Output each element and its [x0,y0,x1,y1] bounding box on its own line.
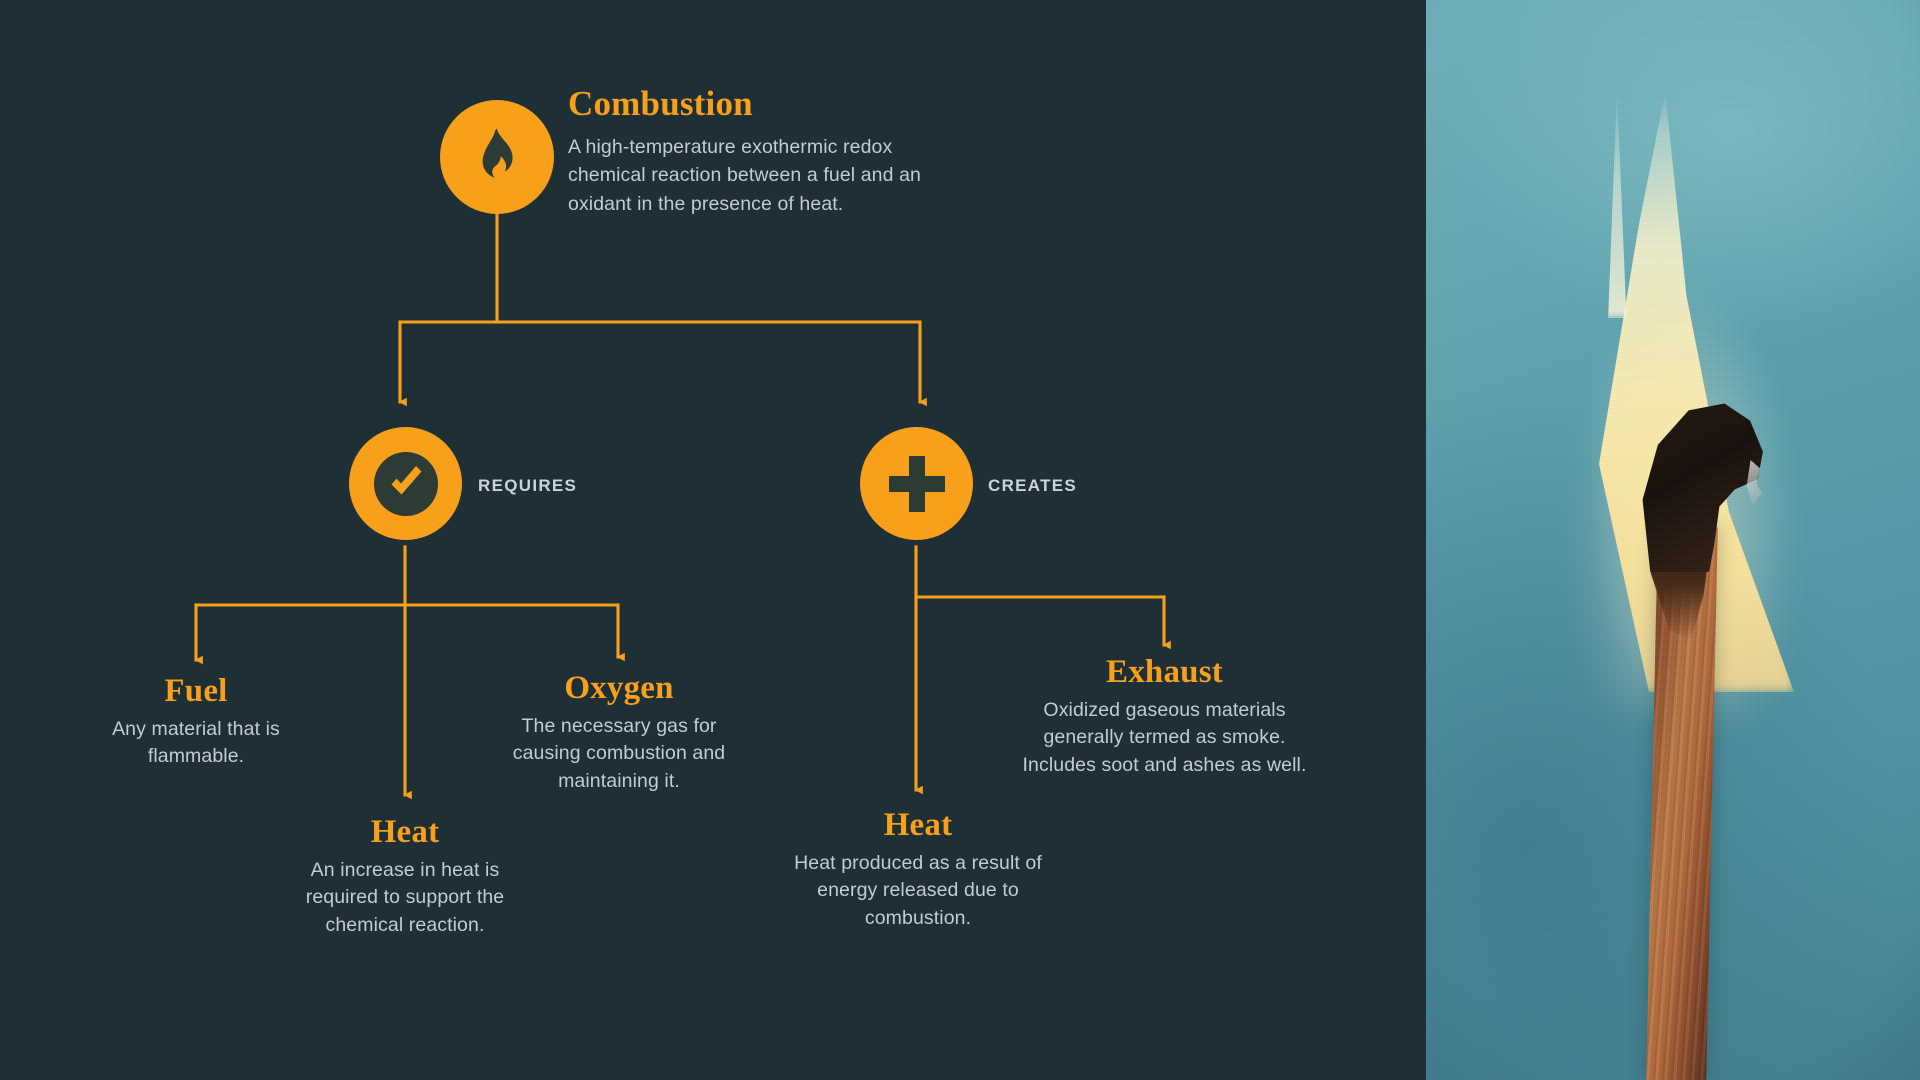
photo-vignette [1426,0,1920,1080]
diagram-panel: Combustion A high-temperature exothermic… [0,0,1426,1080]
leaf-node-exhaust[interactable]: Exhaust Oxidized gaseous materials gener… [1012,655,1317,780]
relation-label-creates: CREATES [988,477,1077,494]
leaf-title-fuel: Fuel [76,674,316,709]
leaf-node-heat-created[interactable]: Heat Heat produced as a result of energy… [793,808,1043,933]
leaf-node-heat-required[interactable]: Heat An increase in heat is required to … [285,815,525,940]
leaf-description-oxygen: The necessary gas for causing combustion… [494,713,744,796]
relation-label-requires: REQUIRES [478,477,577,494]
leaf-node-fuel[interactable]: Fuel Any material that is flammable. [76,674,316,771]
plus-icon [886,453,948,515]
page-title: Combustion [568,86,753,121]
infographic-root: Combustion A high-temperature exothermic… [0,0,1920,1080]
leaf-title-heat-required: Heat [285,815,525,850]
leaf-description-heat-created: Heat produced as a result of energy rele… [793,850,1043,933]
matchstick-photo [1426,0,1920,1080]
root-description: A high-temperature exothermic redox chem… [568,133,928,218]
leaf-description-fuel: Any material that is flammable. [76,716,316,771]
relation-node-requires[interactable] [349,427,462,540]
leaf-title-oxygen: Oxygen [494,671,744,706]
flame-icon [471,127,523,187]
leaf-description-heat-required: An increase in heat is required to suppo… [285,857,525,940]
leaf-node-oxygen[interactable]: Oxygen The necessary gas for causing com… [494,671,744,796]
relation-node-creates[interactable] [860,427,973,540]
leaf-title-exhaust: Exhaust [1012,655,1317,690]
root-node-combustion[interactable] [440,100,554,214]
leaf-title-heat-created: Heat [793,808,1043,843]
check-circle-icon [373,451,439,517]
leaf-description-exhaust: Oxidized gaseous materials generally ter… [1012,697,1317,780]
